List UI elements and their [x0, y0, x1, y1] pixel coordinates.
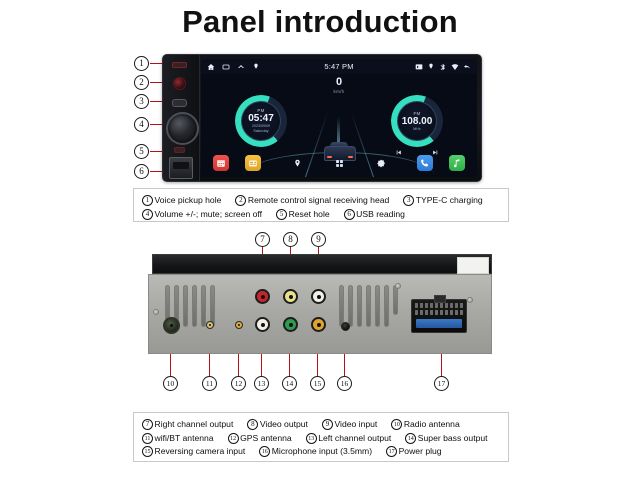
- legend-label: Right channel output: [155, 418, 234, 432]
- back-top-callouts: 7 8 9: [0, 232, 640, 254]
- vent-group-right: [339, 285, 398, 327]
- legend-item: 4 Volume +/-; mute; screen off: [142, 208, 262, 222]
- video-input-jack[interactable]: [311, 289, 326, 304]
- leader-line-15: [317, 354, 318, 376]
- vent-slot: [384, 285, 389, 327]
- wifi-bt-antenna-jack[interactable]: [206, 321, 214, 329]
- legend-label: USB reading: [356, 208, 405, 222]
- vent-slot: [375, 285, 380, 327]
- legend-item: 14 Super bass output: [405, 432, 487, 446]
- vent-slot: [393, 285, 398, 315]
- left-channel-output-jack[interactable]: [255, 317, 270, 332]
- video-output-jack[interactable]: [283, 289, 298, 304]
- callout-16: 16: [337, 376, 352, 391]
- legend-number: 7: [142, 419, 153, 430]
- legend-number: 12: [228, 433, 239, 444]
- voice-pickup-hole: [172, 62, 187, 68]
- car-beam: [337, 117, 340, 143]
- chassis-screw: [395, 283, 401, 289]
- legend-number: 13: [306, 433, 317, 444]
- status-bar: 5:47 PM: [201, 59, 477, 74]
- legend-item: 9 Video input: [322, 418, 377, 432]
- phone-app[interactable]: [417, 155, 433, 171]
- radio-gauge-face: FM 108.00 MHz: [397, 101, 437, 141]
- legend-item: 13 Left channel output: [306, 432, 392, 446]
- radio-app[interactable]: [245, 155, 261, 171]
- legend-number: 16: [259, 446, 270, 457]
- legend-label: Reversing camera input: [155, 445, 246, 459]
- page-title: Panel introduction: [0, 4, 640, 40]
- legend-number: 10: [391, 419, 402, 430]
- callout-2: 2: [134, 75, 149, 90]
- connector-pin-row: [415, 310, 463, 315]
- calendar-icon: [216, 158, 226, 168]
- calendar-app[interactable]: [213, 155, 229, 171]
- radio-antenna-jack[interactable]: [163, 317, 180, 334]
- phone-icon: [420, 158, 430, 168]
- vent-slot: [339, 285, 344, 327]
- back-panel-figure: 7 8 9: [0, 232, 640, 407]
- legend-item: 6 USB reading: [344, 208, 405, 222]
- legend-label: Microphone input (3.5mm): [272, 445, 372, 459]
- touchscreen-display[interactable]: 5:47 PM: [201, 59, 477, 177]
- vent-slot: [348, 285, 353, 327]
- usb-reading-port[interactable]: [169, 157, 193, 179]
- reversing-camera-input-jack[interactable]: [311, 317, 326, 332]
- legend-item: 3 TYPE-C charging: [403, 194, 482, 208]
- callout-12: 12: [231, 376, 246, 391]
- legend-number: 14: [405, 433, 416, 444]
- volume-knob[interactable]: [166, 112, 199, 145]
- legend-label: wifi/BT antenna: [155, 432, 214, 446]
- radio-frequency: 108.00: [402, 116, 433, 127]
- callout-5: 5: [134, 144, 149, 159]
- legend-label: Reset hole: [289, 208, 330, 222]
- legend-label: Left channel output: [318, 432, 391, 446]
- legend-number: 8: [247, 419, 258, 430]
- gps-antenna-jack[interactable]: [235, 321, 243, 329]
- legend-item: 8 Video output: [247, 418, 308, 432]
- clock-gauge-face: PM 05:47 2023/09/09 Saturday: [241, 101, 281, 141]
- radio-unit: MHz: [413, 127, 420, 132]
- gear-icon: [377, 159, 386, 168]
- apps-button[interactable]: [333, 157, 345, 169]
- callout-1: 1: [134, 56, 149, 71]
- legend-number: 1: [142, 195, 153, 206]
- rear-label-sticker: [457, 257, 489, 274]
- callout-17: 17: [434, 376, 449, 391]
- callout-13: 13: [254, 376, 269, 391]
- callout-8: 8: [283, 232, 298, 247]
- clock-weekday: Saturday: [253, 129, 268, 134]
- legend-item: 12 GPS antenna: [228, 432, 292, 446]
- connector-pin-row: [415, 303, 463, 308]
- settings-button[interactable]: [375, 157, 387, 169]
- legend-number: 4: [142, 209, 153, 220]
- legend-row: 4 Volume +/-; mute; screen off 5 Reset h…: [142, 208, 500, 222]
- power-plug-connector[interactable]: [411, 299, 467, 333]
- clock-gauge[interactable]: PM 05:47 2023/09/09 Saturday: [235, 95, 287, 147]
- app-dock: [201, 152, 477, 174]
- front-callout-column: 1 2 3 4 5 6: [134, 54, 162, 182]
- legend-label: Remote control signal receiving head: [248, 194, 389, 208]
- chassis-screw: [467, 297, 473, 303]
- grid-icon: [335, 159, 344, 168]
- back-bottom-callouts: 10 11 12 13 14 15 16 17: [0, 354, 640, 404]
- music-note-icon: [452, 158, 462, 168]
- legend-item: 10 Radio antenna: [391, 418, 459, 432]
- connector-body: [416, 319, 462, 328]
- callout-14: 14: [282, 376, 297, 391]
- radio-icon: [248, 158, 258, 168]
- legend-row: 11 wifi/BT antenna 12 GPS antenna 13 Lef…: [142, 432, 500, 446]
- status-bar-clock: 5:47 PM: [201, 62, 477, 71]
- legend-number: 15: [142, 446, 153, 457]
- legend-row: 7 Right channel output 8 Video output 9 …: [142, 418, 500, 432]
- rear-top-panel: [152, 254, 492, 274]
- legend-label: Radio antenna: [404, 418, 460, 432]
- legend-label: Super bass output: [418, 432, 488, 446]
- callout-10: 10: [163, 376, 178, 391]
- speedometer-readout: 0 km/h: [201, 77, 477, 94]
- callout-7: 7: [255, 232, 270, 247]
- legend-item: 1 Voice pickup hole: [142, 194, 221, 208]
- legend-item: 2 Remote control signal receiving head: [235, 194, 389, 208]
- legend-label: GPS antenna: [240, 432, 292, 446]
- callout-9: 9: [311, 232, 326, 247]
- vent-slot: [366, 285, 371, 327]
- radio-gauge[interactable]: FM 108.00 MHz: [391, 95, 443, 147]
- legend-number: 17: [386, 446, 397, 457]
- music-app[interactable]: [449, 155, 465, 171]
- remote-control-receiver: [173, 77, 186, 90]
- navigation-button[interactable]: [291, 157, 303, 169]
- legend-row: 15 Reversing camera input 16 Microphone …: [142, 445, 500, 459]
- legend-item: 15 Reversing camera input: [142, 445, 245, 459]
- right-channel-output-jack[interactable]: [255, 289, 270, 304]
- legend-label: Volume +/-; mute; screen off: [155, 208, 263, 222]
- leader-line-10: [170, 354, 171, 376]
- vent-slot: [201, 285, 206, 327]
- legend-item: 5 Reset hole: [276, 208, 330, 222]
- leader-line-12: [238, 354, 239, 376]
- legend-item: 11 wifi/BT antenna: [142, 432, 214, 446]
- clock-time: 05:47: [248, 113, 274, 124]
- legend-back-panel: 7 Right channel output 8 Video output 9 …: [133, 412, 509, 462]
- legend-label: Voice pickup hole: [155, 194, 222, 208]
- microphone-input-jack[interactable]: [341, 322, 350, 331]
- legend-number: 3: [403, 195, 414, 206]
- front-panel-figure: 1 2 3 4 5 6: [0, 50, 640, 185]
- leader-line-16: [344, 354, 345, 376]
- callout-11: 11: [202, 376, 217, 391]
- legend-number: 11: [142, 433, 153, 444]
- legend-label: Power plug: [399, 445, 442, 459]
- legend-number: 5: [276, 209, 287, 220]
- leader-line-14: [289, 354, 290, 376]
- vent-slot: [357, 285, 362, 327]
- type-c-charging-port[interactable]: [172, 99, 187, 107]
- vent-slot: [192, 285, 197, 327]
- legend-item: 7 Right channel output: [142, 418, 233, 432]
- legend-row: 1 Voice pickup hole 2 Remote control sig…: [142, 194, 500, 208]
- callout-15: 15: [310, 376, 325, 391]
- head-unit-front: 5:47 PM: [162, 54, 482, 182]
- leader-line-11: [209, 354, 210, 376]
- speed-value: 0: [201, 77, 477, 88]
- speed-unit: km/h: [201, 89, 477, 94]
- leader-line-13: [261, 354, 262, 376]
- legend-label: TYPE-C charging: [416, 194, 483, 208]
- callout-3: 3: [134, 94, 149, 109]
- legend-number: 2: [235, 195, 246, 206]
- super-bass-output-jack[interactable]: [283, 317, 298, 332]
- reset-hole[interactable]: [174, 147, 185, 153]
- rear-chassis: [148, 274, 492, 354]
- leader-line-17: [441, 354, 442, 376]
- callout-6: 6: [134, 164, 149, 179]
- legend-number: 6: [344, 209, 355, 220]
- location-icon: [293, 159, 302, 168]
- callout-4: 4: [134, 117, 149, 132]
- legend-number: 9: [322, 419, 333, 430]
- vent-slot: [183, 285, 188, 327]
- legend-label: Video input: [334, 418, 377, 432]
- left-control-rail: [163, 55, 200, 181]
- legend-item: 17 Power plug: [386, 445, 442, 459]
- chassis-screw: [153, 309, 159, 315]
- legend-item: 16 Microphone input (3.5mm): [259, 445, 372, 459]
- legend-front-panel: 1 Voice pickup hole 2 Remote control sig…: [133, 188, 509, 222]
- legend-label: Video output: [260, 418, 308, 432]
- connector-latch: [434, 295, 446, 303]
